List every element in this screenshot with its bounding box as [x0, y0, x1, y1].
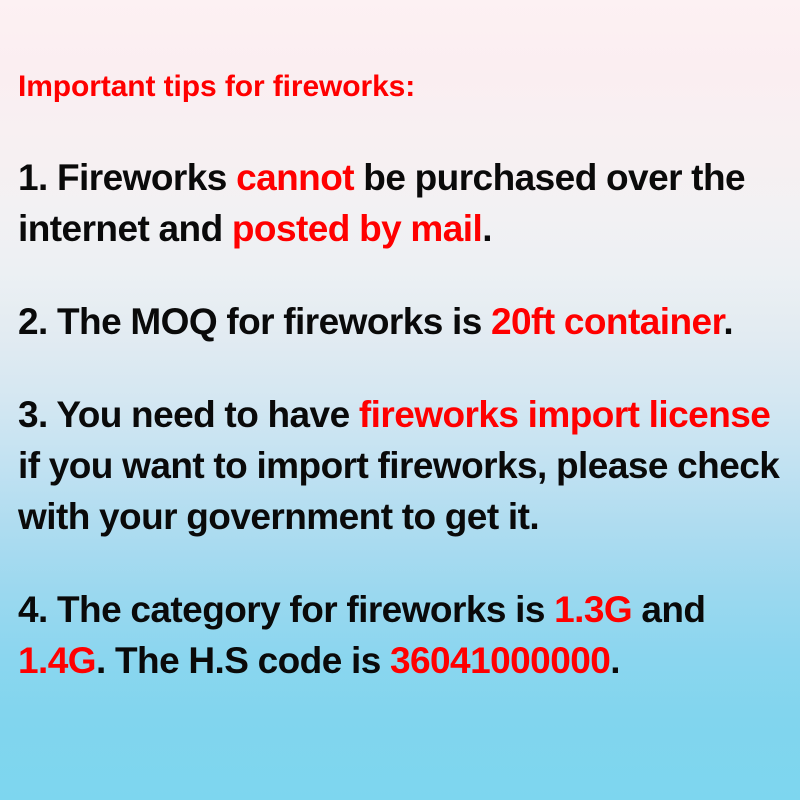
tip-highlight-text: fireworks import license	[359, 394, 770, 435]
tip-text: if you want to import fireworks, please …	[18, 445, 779, 537]
tip-highlight-text: cannot	[236, 157, 354, 198]
tip-item: 2. The MOQ for fireworks is 20ft contain…	[18, 296, 788, 347]
tip-highlight-text: 1.3G	[554, 589, 632, 630]
tip-highlight-text: 36041000000	[390, 640, 610, 681]
tip-highlight-text: 1.4G	[18, 640, 96, 681]
tip-text: Fireworks	[48, 157, 236, 198]
tip-text: The category for fireworks is	[48, 589, 554, 630]
tip-item: 4. The category for fireworks is 1.3G an…	[18, 584, 788, 686]
tip-text: and	[632, 589, 705, 630]
tip-number: 3.	[18, 394, 48, 435]
tip-text: .	[610, 640, 620, 681]
tip-text: . The H.S code is	[96, 640, 390, 681]
fireworks-tips-poster: Important tips for fireworks: 1. Firewor…	[0, 0, 800, 800]
page-title: Important tips for fireworks:	[18, 70, 415, 103]
tip-text: .	[723, 301, 733, 342]
tip-text: .	[482, 208, 492, 249]
tip-number: 2.	[18, 301, 48, 342]
tip-item: 1. Fireworks cannot be purchased over th…	[18, 152, 788, 254]
tip-text: You need to have	[48, 394, 359, 435]
tip-highlight-text: 20ft container	[491, 301, 723, 342]
tip-text: The MOQ for fireworks is	[48, 301, 491, 342]
tips-list: 1. Fireworks cannot be purchased over th…	[18, 152, 788, 686]
tip-number: 1.	[18, 157, 48, 198]
tip-number: 4.	[18, 589, 48, 630]
tip-item: 3. You need to have fireworks import lic…	[18, 389, 788, 542]
tip-highlight-text: posted by mail	[232, 208, 482, 249]
